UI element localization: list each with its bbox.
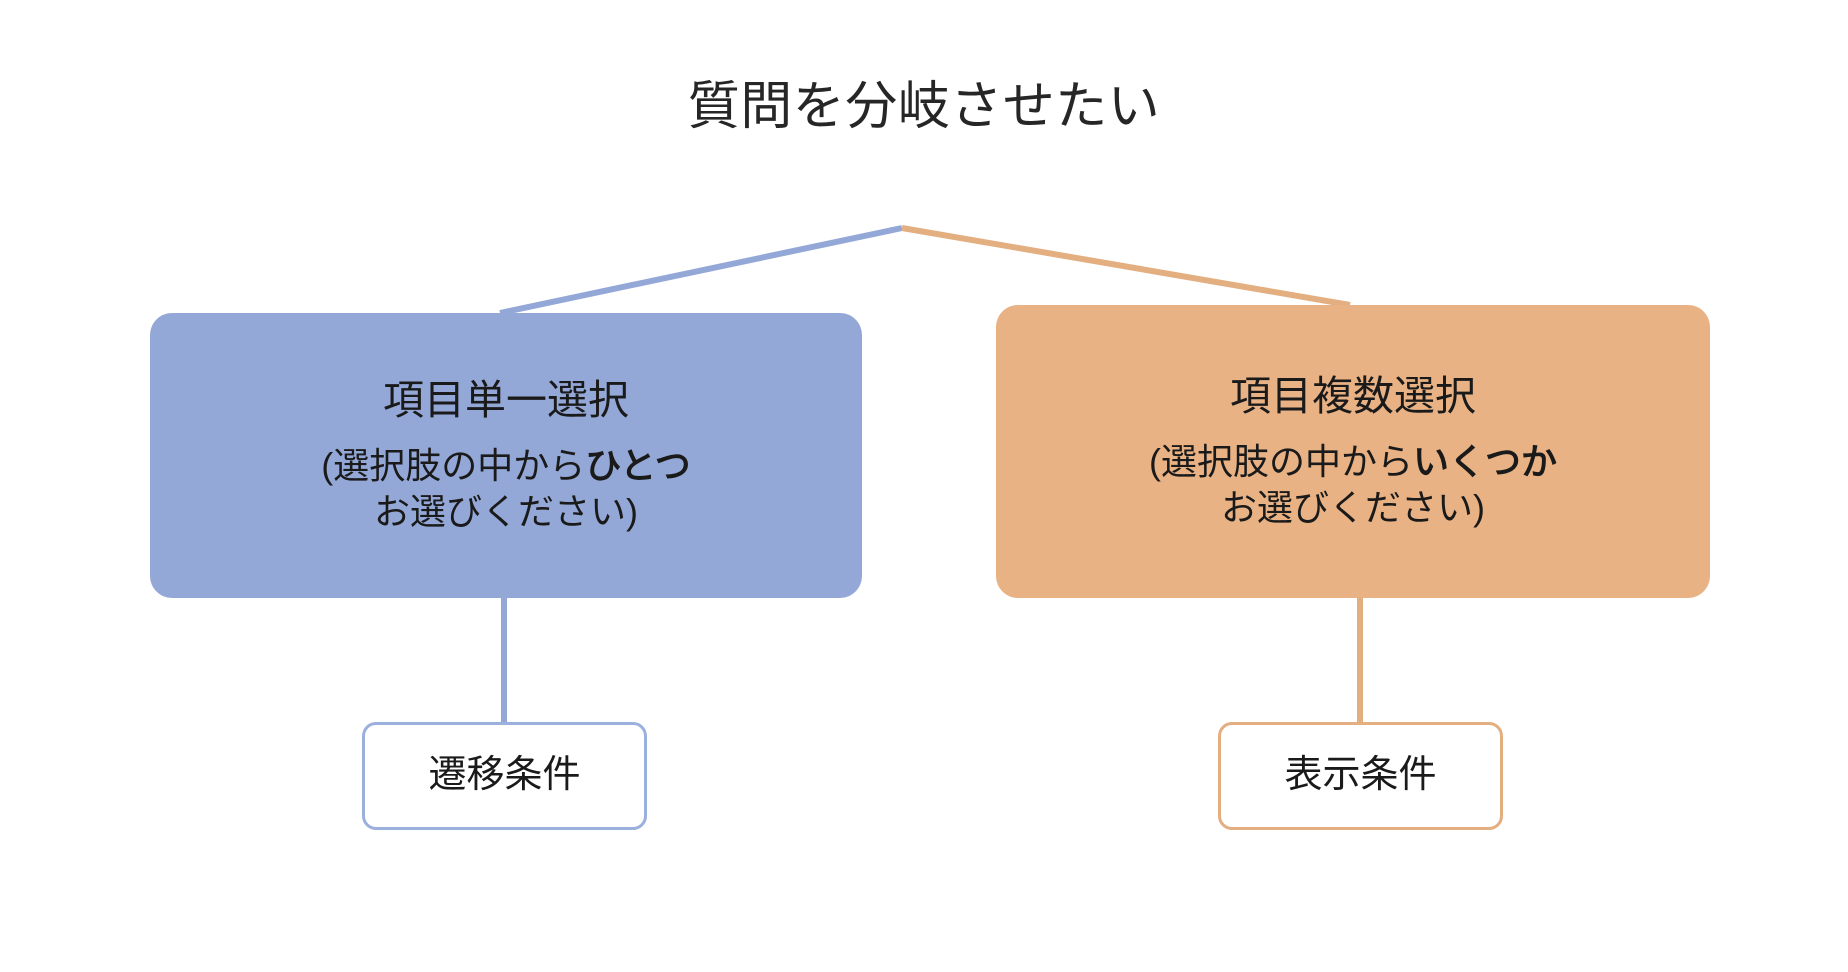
option-box-single-select[interactable]: 項目単一選択 (選択肢の中からひとつ お選びください) bbox=[150, 313, 862, 598]
diagram-canvas: 質問を分岐させたい 項目単一選択 (選択肢の中からひとつ お選びください) 項目… bbox=[0, 0, 1848, 972]
condition-box-transition[interactable]: 遷移条件 bbox=[362, 722, 647, 830]
option-single-heading: 項目単一選択 bbox=[383, 376, 629, 425]
option-multiple-detail-emphasis: いくつか bbox=[1413, 441, 1557, 482]
diagram-title: 質問を分岐させたい bbox=[0, 78, 1848, 138]
condition-box-display[interactable]: 表示条件 bbox=[1218, 722, 1503, 830]
option-multiple-detail-line-1: (選択肢の中からいくつか bbox=[1149, 439, 1557, 485]
option-single-detail-prefix: (選択肢の中から bbox=[321, 445, 585, 486]
condition-transition-label: 遷移条件 bbox=[428, 753, 580, 799]
connector-root-to-single bbox=[500, 228, 902, 313]
option-single-detail-line-1: (選択肢の中からひとつ bbox=[321, 443, 690, 489]
option-box-multiple-select[interactable]: 項目複数選択 (選択肢の中からいくつか お選びください) bbox=[996, 305, 1710, 598]
option-single-detail-line-2: お選びください) bbox=[374, 489, 638, 535]
option-multiple-detail-prefix: (選択肢の中から bbox=[1149, 441, 1413, 482]
option-multiple-detail-line-2: お選びください) bbox=[1221, 485, 1485, 531]
connector-root-to-multiple bbox=[902, 228, 1350, 305]
option-multiple-heading: 項目複数選択 bbox=[1230, 372, 1476, 421]
option-single-detail-emphasis: ひとつ bbox=[585, 445, 690, 486]
condition-display-label: 表示条件 bbox=[1284, 753, 1436, 799]
